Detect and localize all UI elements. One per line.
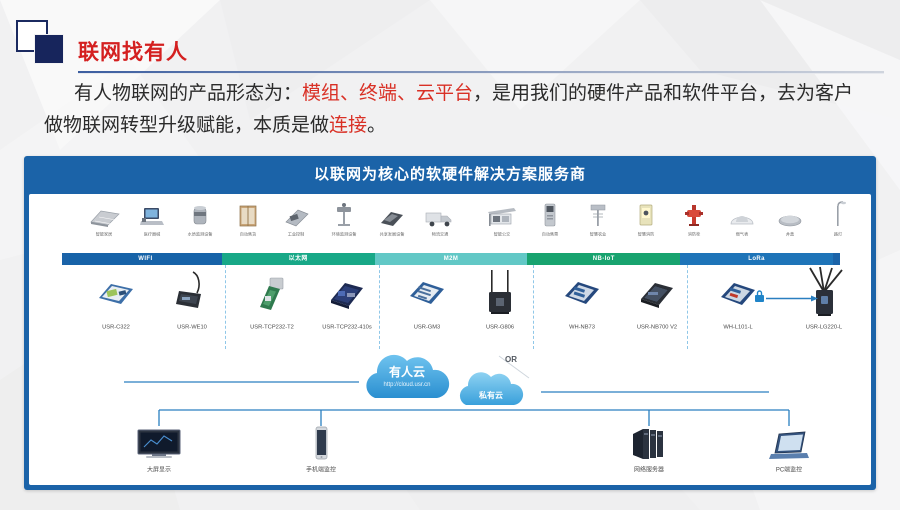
wifi-module-icon bbox=[73, 268, 159, 320]
large-screen-icon bbox=[113, 424, 205, 462]
private-cloud-name: 私有云 bbox=[478, 390, 503, 400]
endpoint-label: 网络服务器 bbox=[589, 465, 709, 474]
industry-item-7: 物流交通 bbox=[411, 198, 469, 237]
product-item-1[interactable]: USR-WE10 bbox=[149, 268, 235, 329]
industry-icon-row: 智能家居 医疗器械 水质监测设备 bbox=[29, 198, 871, 250]
industry-label: 物流交通 bbox=[407, 231, 474, 238]
endpoint-label: PC端监控 bbox=[729, 465, 849, 474]
intro-paragraph: 有人物联网的产品形态为：模组、终端、云平台，是用我们的硬件产品和软件平台，去为客… bbox=[44, 78, 864, 142]
nbiot-module-icon bbox=[539, 268, 625, 320]
product-row: USR-C322 USR-WE10 USR-TCP232-T2 bbox=[29, 268, 871, 350]
industry-label: 路灯 bbox=[805, 231, 871, 238]
paragraph-part-3: 。 bbox=[367, 115, 386, 136]
diagram-title: 以联网为核心的软硬件解决方案服务商 bbox=[24, 156, 876, 194]
paragraph-highlight-1: 模组、终端、云平台 bbox=[302, 83, 473, 104]
public-cloud-trademark: ® bbox=[433, 363, 437, 370]
smartphone-icon bbox=[275, 424, 367, 462]
lora-secure-link bbox=[753, 290, 823, 306]
nbiot-dtu-icon bbox=[614, 268, 700, 320]
title-divider bbox=[78, 71, 884, 73]
laptop-icon bbox=[743, 424, 835, 462]
private-cloud-shape bbox=[460, 372, 523, 405]
band-segment-m2m[interactable]: M2M bbox=[375, 253, 528, 265]
paragraph-highlight-2: 连接 bbox=[329, 115, 367, 136]
ethernet-module-icon bbox=[229, 268, 315, 320]
lock-icon bbox=[755, 295, 764, 302]
band-cap-left bbox=[62, 253, 69, 265]
endpoint-item-0[interactable]: 大屏显示 bbox=[113, 424, 205, 472]
endpoint-item-1[interactable]: 手机端监控 bbox=[275, 424, 367, 472]
wifi-serial-server-icon bbox=[149, 268, 235, 320]
endpoint-item-3[interactable]: PC端监控 bbox=[743, 424, 835, 472]
product-item-5[interactable]: USR-G806 bbox=[457, 268, 543, 329]
solution-diagram-card: 以联网为核心的软硬件解决方案服务商 智能家居 医疗器械 bbox=[24, 156, 876, 490]
product-item-2[interactable]: USR-TCP232-T2 bbox=[229, 268, 315, 329]
product-item-7[interactable]: USR-NB700 V2 bbox=[614, 268, 700, 329]
cloud-section: 有人云 ® http://cloud.usr.cn 私有云 OR bbox=[29, 352, 871, 412]
product-label: USR-LG220-L bbox=[770, 322, 871, 331]
product-item-6[interactable]: WH-NB73 bbox=[539, 268, 625, 329]
product-item-3[interactable]: USR-TCP232-410s bbox=[304, 268, 390, 329]
paragraph-part-1: 有人物联网的产品形态为： bbox=[74, 83, 302, 104]
industrial-router-icon bbox=[457, 268, 543, 320]
product-item-0[interactable]: USR-C322 bbox=[73, 268, 159, 329]
band-segment-wifi[interactable]: WIFI bbox=[69, 253, 222, 265]
public-cloud-url: http://cloud.usr.cn bbox=[383, 382, 430, 388]
or-label: OR bbox=[505, 355, 517, 364]
slide-header: 联网找有人 bbox=[0, 14, 900, 66]
logo-filled-square bbox=[34, 34, 64, 64]
ethernet-serial-server-icon bbox=[304, 268, 390, 320]
public-cloud-name: 有人云 bbox=[389, 364, 425, 379]
diagram-body: 智能家居 医疗器械 水质监测设备 bbox=[29, 194, 871, 485]
slide: 联网找有人 有人物联网的产品形态为：模组、终端、云平台，是用我们的硬件产品和软件… bbox=[0, 0, 900, 510]
squares-logo bbox=[16, 20, 68, 62]
street-light-icon bbox=[809, 198, 867, 228]
band-cap-right bbox=[833, 253, 840, 265]
endpoint-label: 大屏显示 bbox=[99, 465, 219, 474]
band-segment-nbiot[interactable]: NB-IoT bbox=[527, 253, 680, 265]
band-segment-lora[interactable]: LoRa bbox=[680, 253, 833, 265]
page-title: 联网找有人 bbox=[78, 36, 188, 66]
endpoint-label: 手机端监控 bbox=[261, 465, 381, 474]
band-segment-ethernet[interactable]: 以太网 bbox=[222, 253, 375, 265]
server-rack-icon bbox=[603, 424, 695, 462]
industry-item-15: 路灯 bbox=[809, 198, 867, 237]
endpoint-section: 大屏显示 手机端监控 网络服务器 bbox=[29, 406, 871, 485]
technology-band: WIFI 以太网 M2M NB-IoT LoRa bbox=[62, 253, 840, 265]
endpoint-item-2[interactable]: 网络服务器 bbox=[603, 424, 695, 472]
truck-icon bbox=[411, 198, 469, 228]
